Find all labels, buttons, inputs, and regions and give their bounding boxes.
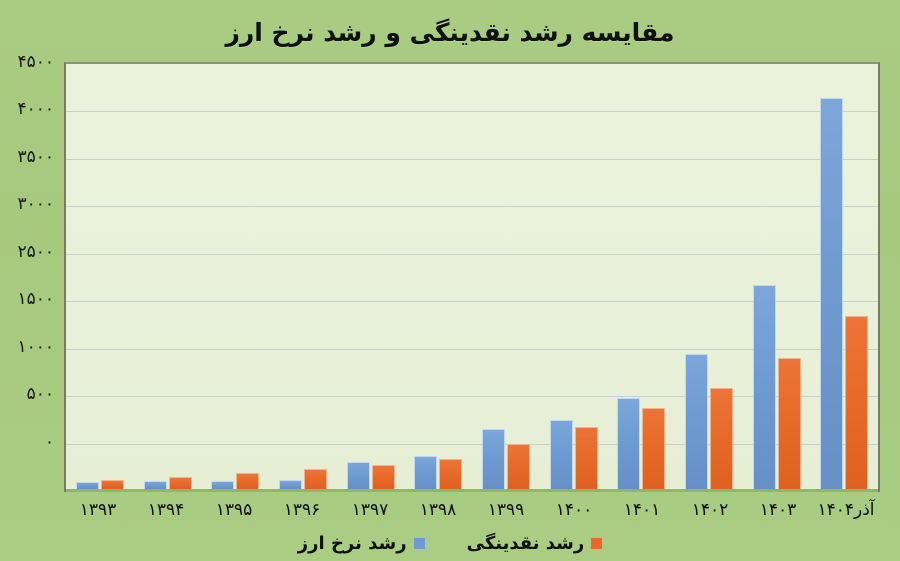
x-axis-tick-label: آذر۱۴۰۴: [812, 500, 880, 530]
legend-swatch-blue: [414, 538, 425, 549]
y-axis-tick-label: ۴۵۰۰: [17, 52, 54, 72]
bar-group-7: [472, 64, 540, 489]
bar-group-11: [743, 64, 811, 489]
y-axis-labels: ۴۵۰۰۴۰۰۰۳۵۰۰۳۰۰۰۲۵۰۰۱۵۰۰۱۰۰۰۵۰۰۰: [0, 0, 60, 561]
x-axis-tick-label: ۱۳۹۳: [64, 500, 132, 530]
bar-liquidity-growth[interactable]: [169, 477, 192, 489]
chart-legend: رشد نقدینگیرشد نرخ ارز: [0, 533, 900, 554]
bar-chart: مقایسه رشد نقدینگی و رشد نرخ ارز ۴۵۰۰۴۰۰…: [0, 0, 900, 561]
x-axis-tick-label: ۱۳۹۴: [132, 500, 200, 530]
chart-title: مقایسه رشد نقدینگی و رشد نرخ ارز: [0, 18, 900, 47]
bar-group-8: [540, 64, 608, 489]
x-axis-tick-label: ۱۴۰۰: [540, 500, 608, 530]
bar-group-2: [134, 64, 202, 489]
bar-liquidity-growth[interactable]: [575, 427, 598, 489]
y-axis-tick-label: ۱۵۰۰: [17, 289, 54, 309]
bar-liquidity-growth[interactable]: [642, 408, 665, 489]
bar-exchange-rate-growth[interactable]: [414, 456, 437, 489]
y-axis-tick-label: ۴۰۰۰: [17, 99, 54, 119]
y-axis-tick-label: ۲۵۰۰: [17, 242, 54, 262]
bar-liquidity-growth[interactable]: [304, 469, 327, 489]
bar-exchange-rate-growth[interactable]: [753, 285, 776, 489]
x-axis-tick-label: ۱۳۹۷: [336, 500, 404, 530]
bar-exchange-rate-growth[interactable]: [279, 480, 302, 489]
bar-groups: [66, 64, 878, 489]
y-axis-tick-label: ۳۰۰۰: [17, 194, 54, 214]
bar-liquidity-growth[interactable]: [507, 444, 530, 489]
bar-exchange-rate-growth[interactable]: [144, 481, 167, 489]
y-axis-tick-label: ۰: [45, 432, 54, 452]
bar-group-10: [675, 64, 743, 489]
bar-exchange-rate-growth[interactable]: [617, 398, 640, 489]
bar-exchange-rate-growth[interactable]: [550, 420, 573, 489]
bar-liquidity-growth[interactable]: [778, 358, 801, 489]
bar-liquidity-growth[interactable]: [372, 465, 395, 489]
bar-exchange-rate-growth[interactable]: [211, 481, 234, 489]
x-axis-tick-label: ۱۴۰۱: [608, 500, 676, 530]
y-axis-tick-label: ۱۰۰۰: [17, 337, 54, 357]
bar-group-5: [337, 64, 405, 489]
bar-exchange-rate-growth[interactable]: [347, 462, 370, 489]
bar-liquidity-growth[interactable]: [845, 316, 868, 489]
bar-group-4: [269, 64, 337, 489]
x-axis-tick-label: ۱۳۹۶: [268, 500, 336, 530]
bar-exchange-rate-growth[interactable]: [76, 482, 99, 489]
x-axis-tick-label: ۱۴۰۳: [744, 500, 812, 530]
x-axis-tick-label: ۱۴۰۲: [676, 500, 744, 530]
legend-item-1[interactable]: رشد نقدینگی: [467, 533, 603, 554]
bar-group-1: [66, 64, 134, 489]
legend-label: رشد نقدینگی: [467, 533, 585, 554]
bar-exchange-rate-growth[interactable]: [685, 354, 708, 489]
bar-liquidity-growth[interactable]: [439, 459, 462, 489]
x-axis-tick-label: ۱۳۹۸: [404, 500, 472, 530]
bar-exchange-rate-growth[interactable]: [820, 98, 843, 489]
bar-group-9: [607, 64, 675, 489]
bar-liquidity-growth[interactable]: [710, 388, 733, 489]
x-axis-tick-label: ۱۳۹۹: [472, 500, 540, 530]
legend-swatch-orange: [591, 538, 602, 549]
bar-liquidity-growth[interactable]: [236, 473, 259, 489]
bar-group-6: [404, 64, 472, 489]
y-axis-tick-label: ۵۰۰: [27, 384, 54, 404]
plot-area: [64, 62, 880, 492]
y-axis-tick-label: ۳۵۰۰: [17, 147, 54, 167]
legend-item-2[interactable]: رشد نرخ ارز: [298, 533, 425, 554]
x-axis-labels: ۱۳۹۳۱۳۹۴۱۳۹۵۱۳۹۶۱۳۹۷۱۳۹۸۱۳۹۹۱۴۰۰۱۴۰۱۱۴۰۲…: [64, 500, 880, 530]
x-axis-tick-label: ۱۳۹۵: [200, 500, 268, 530]
bar-exchange-rate-growth[interactable]: [482, 429, 505, 489]
bar-group-3: [201, 64, 269, 489]
bar-liquidity-growth[interactable]: [101, 480, 124, 489]
legend-label: رشد نرخ ارز: [298, 533, 407, 554]
bar-group-12: [810, 64, 878, 489]
